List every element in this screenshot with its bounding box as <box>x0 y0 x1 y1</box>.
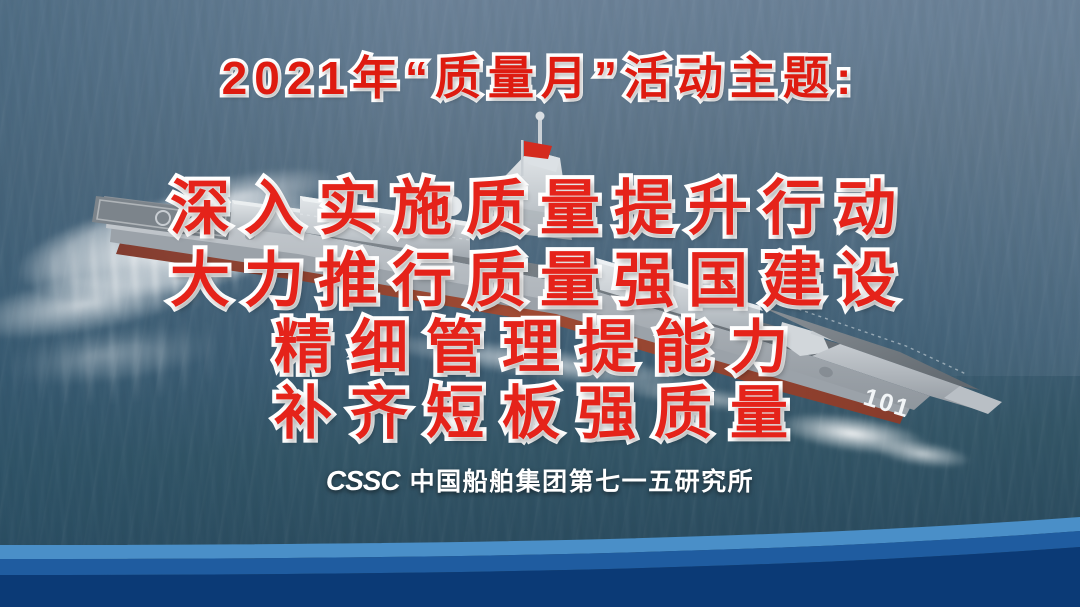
organization-credit: CSSC 中国船舶集团第七一五研究所 <box>0 462 1080 498</box>
organization-name: 中国船舶集团第七一五研究所 <box>410 462 755 498</box>
page-title: 2021年“质量月”活动主题: <box>0 54 1080 104</box>
quality-month-poster: 101 2021年“质量月”活动主题: 深入实施质量提升行动 大力推行质量强国建… <box>0 0 1080 607</box>
slogan-line-4: 补齐短板强质量 <box>0 366 1080 450</box>
poster-text-layer: 2021年“质量月”活动主题: 深入实施质量提升行动 大力推行质量强国建设 精细… <box>0 0 1080 607</box>
bottom-decorative-bands <box>0 517 1080 607</box>
organization-abbreviation: CSSC <box>326 465 400 497</box>
